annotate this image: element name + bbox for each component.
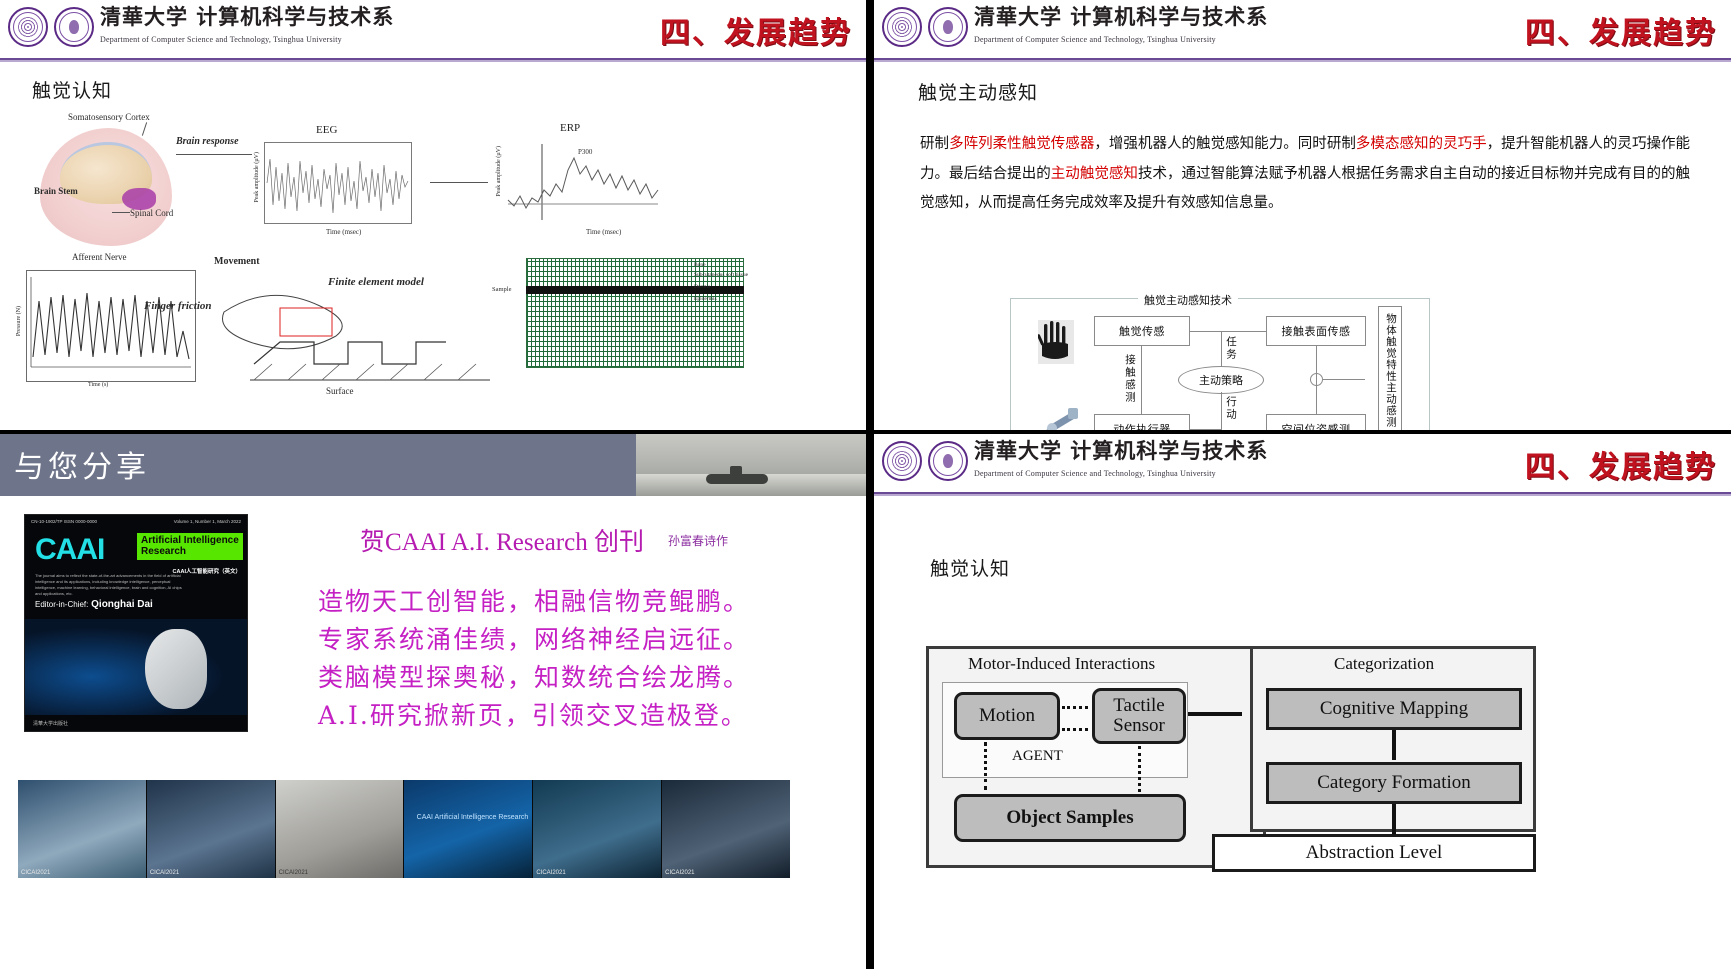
friction-x-axis-label: Time (s) [88, 382, 108, 388]
section-title-tl: 四、发展趋势 [660, 8, 852, 52]
slide-title-tl: 触觉认知 [32, 76, 112, 103]
journal-name-line2: Research [141, 547, 239, 558]
robot-arm-photo [1032, 402, 1080, 430]
label-spinal-cord: Spinal Cord [130, 208, 173, 218]
friction-trace [27, 271, 195, 381]
edge-task-to-contact [1221, 331, 1267, 332]
node-action-executor: 动作执行器 [1094, 414, 1190, 430]
journal-issn: CN-10-1902/TP ISSN 0000-0000 [31, 519, 97, 524]
eeg-x-axis-label: Time (msec) [326, 228, 361, 236]
photo-caption-2: CICAI2021 [150, 870, 179, 876]
poem-line-4: A.I.研究掀新页，引领交叉造极登。 [318, 696, 748, 732]
journal-publisher: 清華大学出版社 [33, 720, 68, 727]
label-afferent-nerve: Afferent Nerve [72, 252, 127, 262]
event-photo-strip: CICAI2021 CICAI2021 CICAI2021 CAAI Artif… [18, 780, 790, 878]
label-somatosensory-cortex: Somatosensory Cortex [68, 112, 150, 122]
edge-label-task: 任务 [1224, 336, 1239, 361]
eeg-plot [264, 142, 412, 224]
node-category-formation: Category Formation [1266, 762, 1522, 804]
erp-y-axis-label: Peak amplitude (µV) [496, 146, 502, 196]
arrow-sensor-to-motion [1062, 728, 1088, 731]
edge-label-contact-detect: 接触感测 [1123, 354, 1138, 404]
label-brain-stem: Brain Stem [34, 186, 78, 196]
label-mesh-epidermis: Epidermis [694, 296, 717, 302]
journal-editor: Editor-in-Chief: Qionghai Dai [35, 599, 153, 610]
tsinghua-logos-tr: 清華大学 计算机科学与技术系 Department of Computer Sc… [882, 6, 1268, 47]
eeg-panel-title: EEG [316, 124, 337, 136]
node-active-strategy: 主动策略 [1178, 366, 1264, 394]
photo-caption-5: CICAI2021 [536, 870, 565, 876]
photo-caption-1: CICAI2021 [21, 870, 50, 876]
submarine-icon [706, 474, 768, 484]
photo-caption-3: CICAI2021 [279, 870, 308, 876]
slide-top-left: 清華大学 计算机科学与技术系 Department of Computer Sc… [0, 0, 866, 430]
finger-surface-diagram [214, 268, 514, 386]
arrow-motion-to-sensor [1062, 706, 1088, 709]
photo-4: CAAI Artificial Intelligence Research [404, 780, 533, 878]
journal-name-banner: Artificial Intelligence Research [137, 533, 243, 560]
erp-plot: P300 [504, 140, 664, 226]
node-abstraction-level: Abstraction Level [1212, 834, 1536, 872]
eeg-y-axis-label: Peak amplitude (µV) [254, 152, 260, 202]
slide-body-tl: 触觉认知 Somatosensory Cortex Brain Stem Spi… [0, 62, 866, 430]
head-anatomy-illustration: Somatosensory Cortex Brain Stem Spinal C… [26, 110, 226, 260]
robot-arm-icon [1032, 402, 1080, 430]
node-spatial-pose-sensing: 空间位姿感测 [1266, 414, 1366, 430]
journal-logo: CAAI [35, 533, 104, 567]
journal-cover-art [25, 619, 247, 715]
node-contact-surface-sensing: 接触表面传感 [1266, 316, 1366, 346]
edge-label-action: 行动 [1224, 396, 1239, 421]
share-band: 与您分享 [0, 434, 866, 496]
node-tactile-sensor-label: TactileSensor [1113, 696, 1165, 736]
edge-contact-detect [1141, 346, 1142, 414]
cerebellum-icon [122, 188, 156, 210]
photo-5: CICAI2021 [533, 780, 662, 878]
arrow-mapping-to-category [1392, 730, 1396, 760]
slide-header-tr: 清華大学 计算机科学与技术系 Department of Computer Sc… [874, 0, 1731, 58]
tactile-cognition-figure: Somatosensory Cortex Brain Stem Spinal C… [26, 110, 746, 390]
share-band-title: 与您分享 [14, 442, 150, 486]
node-tactile-sensor: TactileSensor [1092, 688, 1186, 744]
finger-contact-schematic [214, 268, 514, 386]
journal-volume: Volume 1, Number 1, March 2022 [174, 519, 241, 524]
label-surface: Surface [326, 386, 353, 396]
arrow-sensor-to-mapping [1188, 712, 1242, 716]
active-tactile-framework-diagram: 触觉主动感知技术 [1010, 284, 1480, 430]
section-title-tr: 四、发展趋势 [1525, 8, 1717, 52]
hand-icon [1038, 320, 1074, 364]
edge-task-vertical [1221, 331, 1222, 367]
department-seal-icon [54, 7, 94, 47]
label-sample: Sample [492, 286, 512, 293]
group-motor-induced-caption: Motor-Induced Interactions [968, 654, 1155, 674]
slide-body-tr: 触觉主动感知 研制多阵列柔性触觉传感器，增强机器人的触觉感知能力。同时研制多模态… [874, 62, 1731, 430]
arrow-samples-to-sensor [1138, 746, 1141, 792]
paragraph-highlight: 多模态感知的灵巧手 [1356, 136, 1487, 152]
poem-line-2: 专家系统涌佳绩，网络神经启远征。 [318, 620, 750, 656]
tactile-cognition-architecture: Motor-Induced Interactions Motion Tactil… [874, 644, 1554, 880]
paragraph-highlight: 多阵列柔性触觉传感器 [949, 136, 1094, 152]
edge-sum-to-right-label [1323, 379, 1365, 380]
slide-header-tl: 清華大学 计算机科学与技术系 Department of Computer Sc… [0, 0, 866, 58]
slide-bottom-left: 与您分享 CN-10-1902/TP ISSN 0000-0000 Volume… [0, 434, 866, 969]
university-name-br: 清華大学 计算机科学与技术系 Department of Computer Sc… [974, 440, 1268, 481]
journal-top-meta: CN-10-1902/TP ISSN 0000-0000 Volume 1, N… [31, 519, 241, 524]
journal-editor-name: Qionghai Dai [91, 599, 153, 610]
department-seal-icon [928, 7, 968, 47]
journal-name-line1: Artificial Intelligence [141, 536, 239, 547]
journal-blurb: The journal aims to reflect the state-of… [35, 573, 185, 597]
label-brain-response: Brain response [176, 136, 239, 147]
group-categorization-caption: Categorization [1334, 654, 1434, 674]
tsinghua-seal-icon [8, 7, 48, 47]
right-label-text: 物体触觉特性主动感测 [1384, 313, 1399, 428]
leader-line-1 [142, 122, 147, 136]
paragraph-highlight: 主动触觉感知 [1051, 166, 1138, 182]
section-title-br: 四、发展趋势 [1525, 442, 1717, 486]
finger-friction-plot [26, 270, 196, 382]
summation-node-icon [1310, 373, 1323, 386]
arrow-motion-to-samples [984, 742, 987, 790]
slide-bottom-right: 清華大学 计算机科学与技术系 Department of Computer Sc… [874, 434, 1731, 969]
university-name: 清華大学 计算机科学与技术系 Department of Computer Sc… [100, 6, 394, 47]
slide-top-right: 清華大学 计算机科学与技术系 Department of Computer Sc… [874, 0, 1731, 430]
slide-grid: 清華大学 计算机科学与技术系 Department of Computer Sc… [0, 0, 1731, 969]
submarine-photo [636, 434, 866, 496]
label-mesh-bone: Bone [694, 262, 706, 268]
poem-line-1: 造物天工创智能，相融信物竞鲲鹏。 [318, 582, 750, 618]
slide-title-tr: 触觉主动感知 [918, 78, 1038, 105]
ai-head-graphic [145, 629, 207, 709]
label-movement: Movement [214, 256, 260, 267]
eeg-trace [265, 143, 411, 223]
node-motion: Motion [954, 692, 1060, 740]
node-cognitive-mapping: Cognitive Mapping [1266, 688, 1522, 730]
paragraph-text: ，增强机器人的触觉感知能力。同时研制 [1094, 136, 1356, 152]
friction-y-axis-label: Pressure (N) [16, 306, 22, 336]
arrow-abstraction-to-category [1392, 804, 1396, 834]
arrow-brain-response [176, 154, 252, 155]
node-tactile-sensing: 触觉传感 [1094, 316, 1190, 346]
label-mesh-soft-tissue: Subcutaneous soft tissue [694, 272, 748, 278]
erp-x-axis-label: Time (msec) [586, 228, 621, 236]
tsinghua-logos: 清華大学 计算机科学与技术系 Department of Computer Sc… [8, 6, 394, 47]
leader-line-2 [112, 212, 130, 213]
photo-caption-6: CICAI2021 [665, 870, 694, 876]
poem-line-3: 类脑模型探奥秘，知数统合绘龙腾。 [318, 658, 750, 694]
erp-panel-title: ERP [560, 122, 580, 134]
edge-action-vertical [1221, 392, 1222, 429]
tactile-active-perception-paragraph: 研制多阵列柔性触觉传感器，增强机器人的触觉感知能力。同时研制多模态感知的灵巧手，… [920, 130, 1690, 219]
university-name-tr: 清華大学 计算机科学与技术系 Department of Computer Sc… [974, 6, 1268, 47]
poem-title: 贺CAAI A.I. Research 创刊 [360, 522, 644, 558]
agent-label: AGENT [1012, 748, 1063, 765]
caai-journal-cover: CN-10-1902/TP ISSN 0000-0000 Volume 1, N… [24, 514, 248, 732]
paragraph-text: 研制 [920, 136, 949, 152]
tsinghua-seal-icon [882, 7, 922, 47]
tsinghua-seal-icon [882, 441, 922, 481]
diagram-frame-label: 触觉主动感知技术 [1138, 292, 1238, 308]
node-object-samples: Object Samples [954, 794, 1186, 842]
label-mesh-dermis: Dermis [694, 284, 710, 290]
journal-editor-label: Editor-in-Chief: [35, 600, 88, 609]
arrow-eeg-to-erp [430, 182, 488, 183]
erp-trace: P300 [504, 140, 662, 224]
photo-1: CICAI2021 [18, 780, 147, 878]
robotic-hand-photo [1038, 320, 1074, 364]
photo-2: CICAI2021 [147, 780, 276, 878]
photo-6: CICAI2021 [662, 780, 790, 878]
tsinghua-logos-br: 清華大学 计算机科学与技术系 Department of Computer Sc… [882, 440, 1268, 481]
svg-text:P300: P300 [578, 148, 593, 156]
slide-title-br: 触觉认知 [930, 554, 1010, 581]
slide-body-br: 触觉认知 Motor-Induced Interactions Motion T… [874, 496, 1731, 969]
photo-caption-4: CAAI Artificial Intelligence Research [417, 814, 529, 821]
fem-mesh-layer-dark [526, 286, 744, 294]
label-finger-friction: Finger friction [144, 300, 212, 312]
slide-header-br: 清華大学 计算机科学与技术系 Department of Computer Sc… [874, 434, 1731, 492]
edge-action-to-executor [1190, 429, 1222, 430]
poem-author: 孙富春诗作 [668, 532, 728, 549]
department-seal-icon [928, 441, 968, 481]
right-label-box: 物体触觉特性主动感测 [1378, 306, 1402, 430]
photo-3: CICAI2021 [276, 780, 405, 878]
edge-tactile-to-task [1190, 331, 1222, 332]
